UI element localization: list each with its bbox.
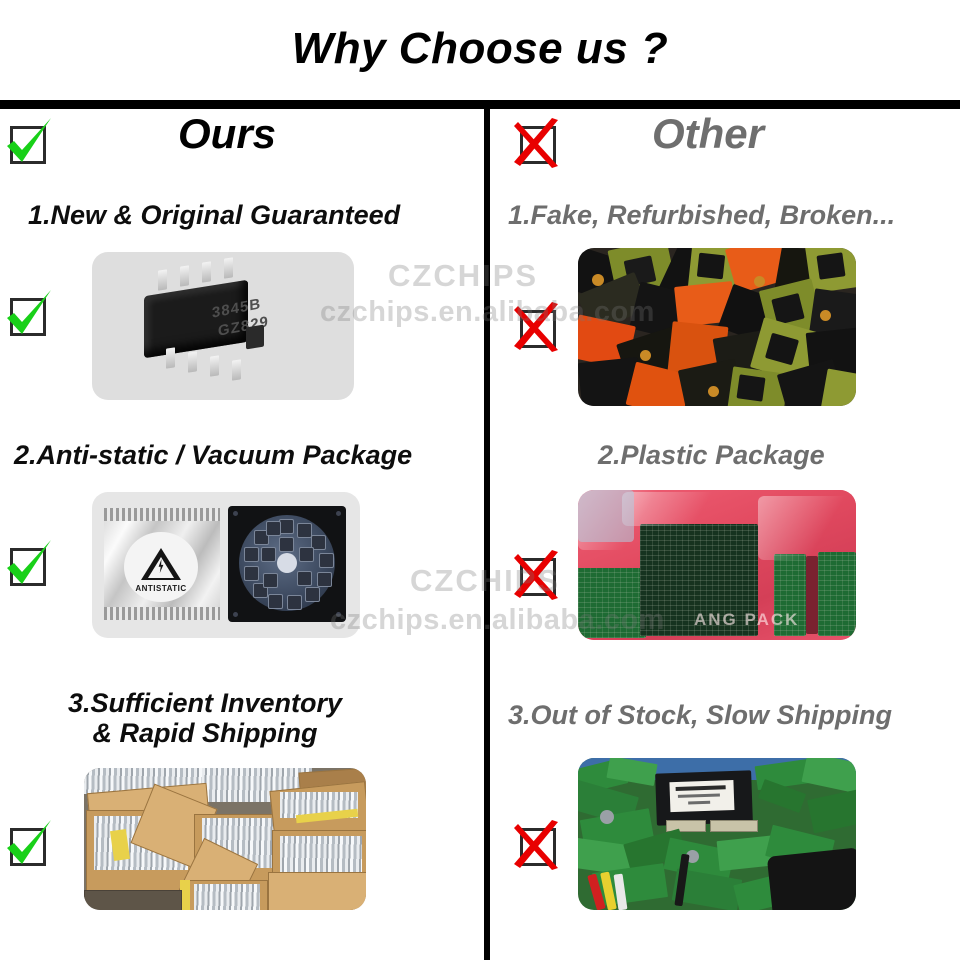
antistatic-bag-reel-photo: ANTISTATIC bbox=[92, 492, 360, 638]
comparison-infographic: Why Choose us ? Ours Other 1.New & Origi… bbox=[0, 0, 960, 960]
green-check-icon bbox=[2, 288, 54, 340]
scrap-chip-pile-photo bbox=[578, 248, 856, 406]
checkbox-check-row3 bbox=[2, 818, 54, 870]
black-module bbox=[655, 770, 753, 825]
warehouse-boxes-photo bbox=[84, 768, 366, 910]
header-divider bbox=[0, 100, 960, 109]
checkbox-check-ours-header bbox=[2, 116, 54, 168]
other-item-1-heading: 1.Fake, Refurbished, Broken... bbox=[508, 200, 895, 230]
pcb-scrap-pile-photo bbox=[578, 758, 856, 910]
ours-item-1-heading: 1.New & Original Guaranteed bbox=[28, 200, 400, 230]
module-label bbox=[669, 780, 734, 812]
page-title: Why Choose us ? bbox=[0, 24, 960, 74]
green-check-icon bbox=[2, 538, 54, 590]
other-item-2-heading: 2.Plastic Package bbox=[598, 440, 825, 470]
brand-watermark-top: CZCHIPS bbox=[388, 258, 538, 294]
ours-item-3-heading: 3.Sufficient Inventory & Rapid Shipping bbox=[68, 688, 342, 748]
green-check-icon bbox=[2, 818, 54, 870]
column-header-other: Other bbox=[652, 110, 764, 158]
red-cross-icon bbox=[512, 300, 564, 352]
pack-watermark: ANG PACK bbox=[694, 610, 799, 630]
red-cross-icon bbox=[512, 818, 564, 870]
antistatic-label-disc: ANTISTATIC bbox=[124, 532, 198, 602]
column-divider bbox=[484, 109, 490, 960]
plastic-bag-pcb-photo: ANG PACK bbox=[578, 490, 856, 640]
other-item-3-heading: 3.Out of Stock, Slow Shipping bbox=[508, 700, 892, 730]
red-cross-icon bbox=[512, 548, 564, 600]
checkbox-cross-row2 bbox=[512, 548, 564, 600]
column-header-ours: Ours bbox=[178, 110, 276, 158]
antistatic-bag: ANTISTATIC bbox=[104, 508, 220, 620]
ours-item-2-heading: 2.Anti-static / Vacuum Package bbox=[14, 440, 412, 470]
checkbox-cross-row3 bbox=[512, 818, 564, 870]
reel-tray bbox=[228, 506, 346, 622]
checkbox-check-row2 bbox=[2, 538, 54, 590]
checkbox-cross-other-header bbox=[512, 116, 564, 168]
checkbox-cross-row1 bbox=[512, 300, 564, 352]
antistatic-label-text: ANTISTATIC bbox=[124, 584, 198, 593]
green-check-icon bbox=[2, 116, 54, 168]
red-cross-icon bbox=[512, 116, 564, 168]
checkbox-check-row1 bbox=[2, 288, 54, 340]
sop8-chip-photo: 3845B GZ829 bbox=[92, 252, 354, 400]
